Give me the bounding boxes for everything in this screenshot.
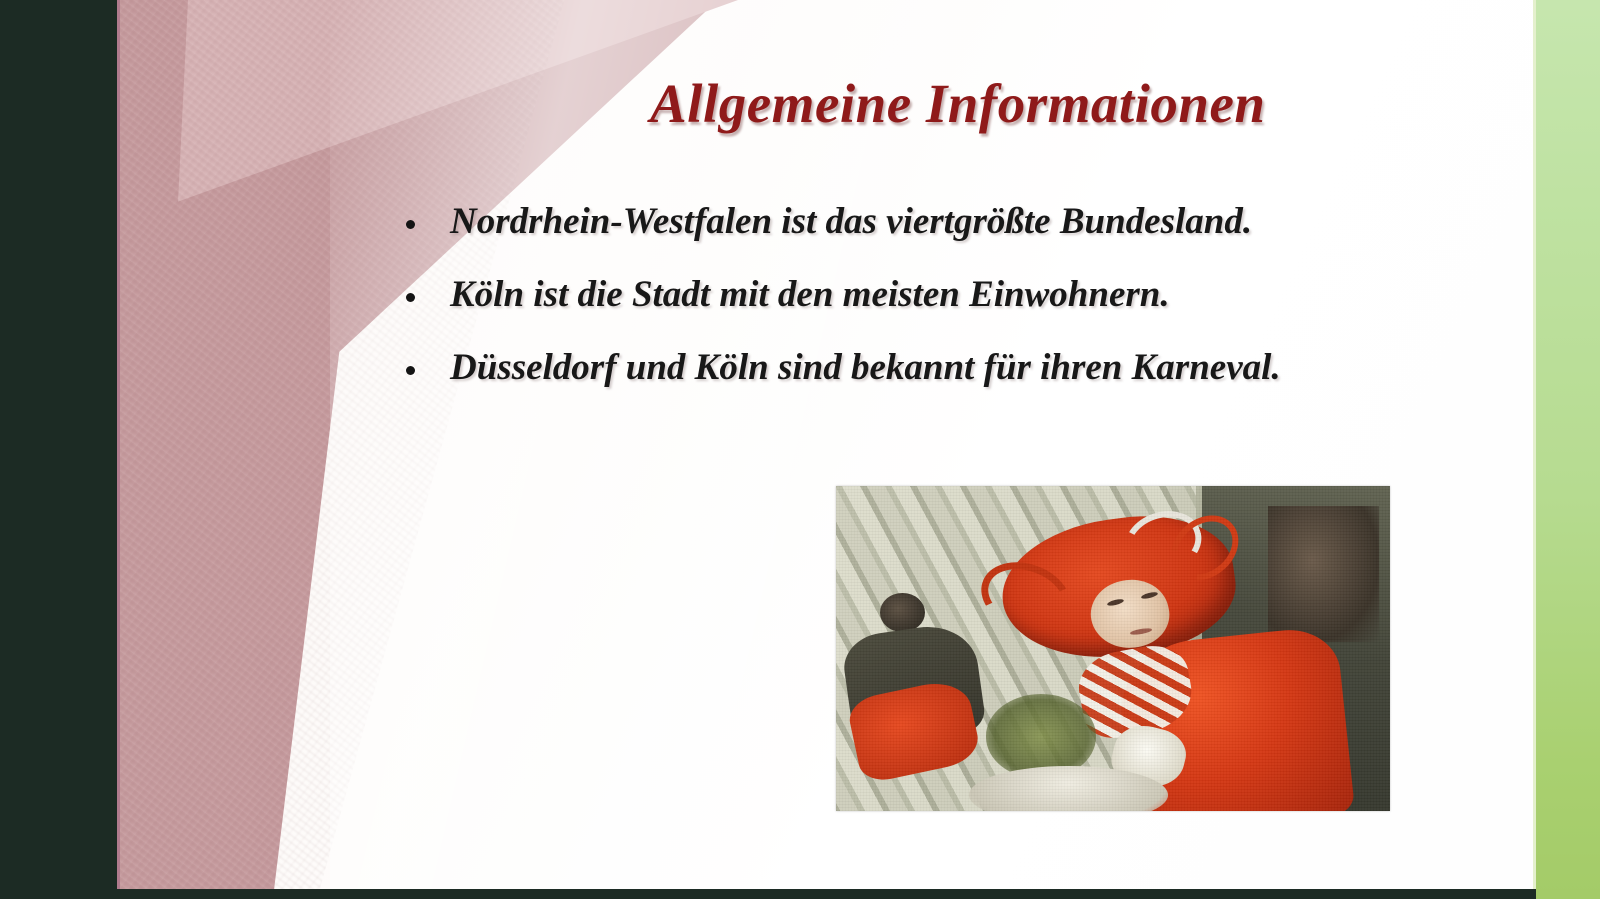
karneval-photo xyxy=(836,486,1390,811)
bullet-marker-icon xyxy=(406,293,415,302)
bullet-list: Nordrhein-Westfalen ist das viertgrößte … xyxy=(396,198,1406,416)
photo-inner xyxy=(836,486,1390,811)
slide-content: Allgemeine Informationen Nordrhein-Westf… xyxy=(0,0,1600,899)
bullet-text-3: Düsseldorf und Köln sind bekannt für ihr… xyxy=(450,347,1281,388)
slide-title: Allgemeine Informationen xyxy=(650,72,1500,135)
presentation-slide: Allgemeine Informationen Nordrhein-Westf… xyxy=(0,0,1600,899)
bullet-item-1: Nordrhein-Westfalen ist das viertgrößte … xyxy=(396,198,1406,247)
bullet-item-2: Köln ist die Stadt mit den meisten Einwo… xyxy=(396,271,1406,320)
photo-second-person-head xyxy=(880,593,924,632)
photo-crowd-blob xyxy=(1268,506,1379,643)
bullet-text-1: Nordrhein-Westfalen ist das viertgrößte … xyxy=(450,201,1252,242)
bullet-marker-icon xyxy=(406,220,415,229)
bullet-text-2: Köln ist die Stadt mit den meisten Einwo… xyxy=(450,274,1170,315)
bullet-item-3: Düsseldorf und Köln sind bekannt für ihr… xyxy=(396,344,1406,393)
bullet-marker-icon xyxy=(406,366,415,375)
